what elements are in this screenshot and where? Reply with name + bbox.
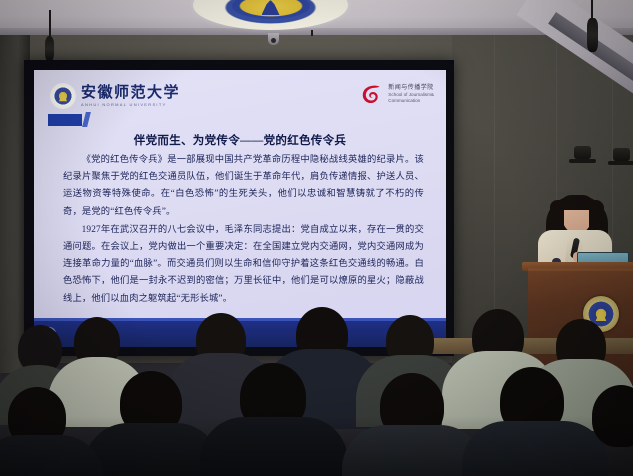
audience-shoulders — [0, 435, 104, 476]
audience — [0, 301, 633, 476]
university-name-cn: 安徽师范大学 — [81, 86, 180, 101]
audience-shoulders — [462, 421, 608, 476]
slide-title: 伴党而生、为党传令——党的红色传令兵 — [34, 132, 446, 148]
school-logo: 新闻与传播学院 School of Journalism& Communicat… — [359, 82, 434, 106]
university-seal-icon — [50, 83, 76, 109]
school-name-en-line2: Communication — [388, 98, 434, 104]
school-name-cn: 新闻与传播学院 — [388, 85, 434, 93]
school-logo-icon — [359, 82, 383, 106]
slide-body: 《党的红色传令兵》是一部展现中国共产党革命历程中隐秘战线英雄的纪录片。该纪录片聚… — [63, 152, 424, 309]
slide-paragraph: 1927年在武汉召开的八七会议中，毛泽东同志提出：党自成立以来，存在一贯的交通问… — [63, 222, 424, 308]
university-name-en: ANHUI NORMAL UNIVERSITY — [81, 103, 180, 107]
slide-header: 安徽师范大学 ANHUI NORMAL UNIVERSITY 新闻与传播学院 S… — [34, 70, 446, 126]
pendant-microphone — [45, 36, 54, 62]
audience-shoulders — [200, 417, 348, 476]
wall-speaker-icon — [613, 148, 630, 161]
slide-paragraph: 《党的红色传令兵》是一部展现中国共产党革命历程中隐秘战线英雄的纪录片。该纪录片聚… — [63, 152, 424, 221]
pendant-microphone — [587, 18, 598, 52]
slide-accent-bar — [48, 114, 82, 126]
school-name: 新闻与传播学院 School of Journalism& Communicat… — [388, 85, 434, 104]
ceiling-camera-icon — [268, 33, 279, 45]
lecture-hall-photo: 安徽师范大学 ANHUI NORMAL UNIVERSITY 新闻与传播学院 S… — [0, 0, 633, 476]
university-logo: 安徽师范大学 ANHUI NORMAL UNIVERSITY — [50, 83, 180, 109]
wall-speaker-icon — [574, 146, 591, 159]
pendant-rod — [311, 30, 313, 36]
university-name: 安徽师范大学 ANHUI NORMAL UNIVERSITY — [81, 86, 180, 107]
